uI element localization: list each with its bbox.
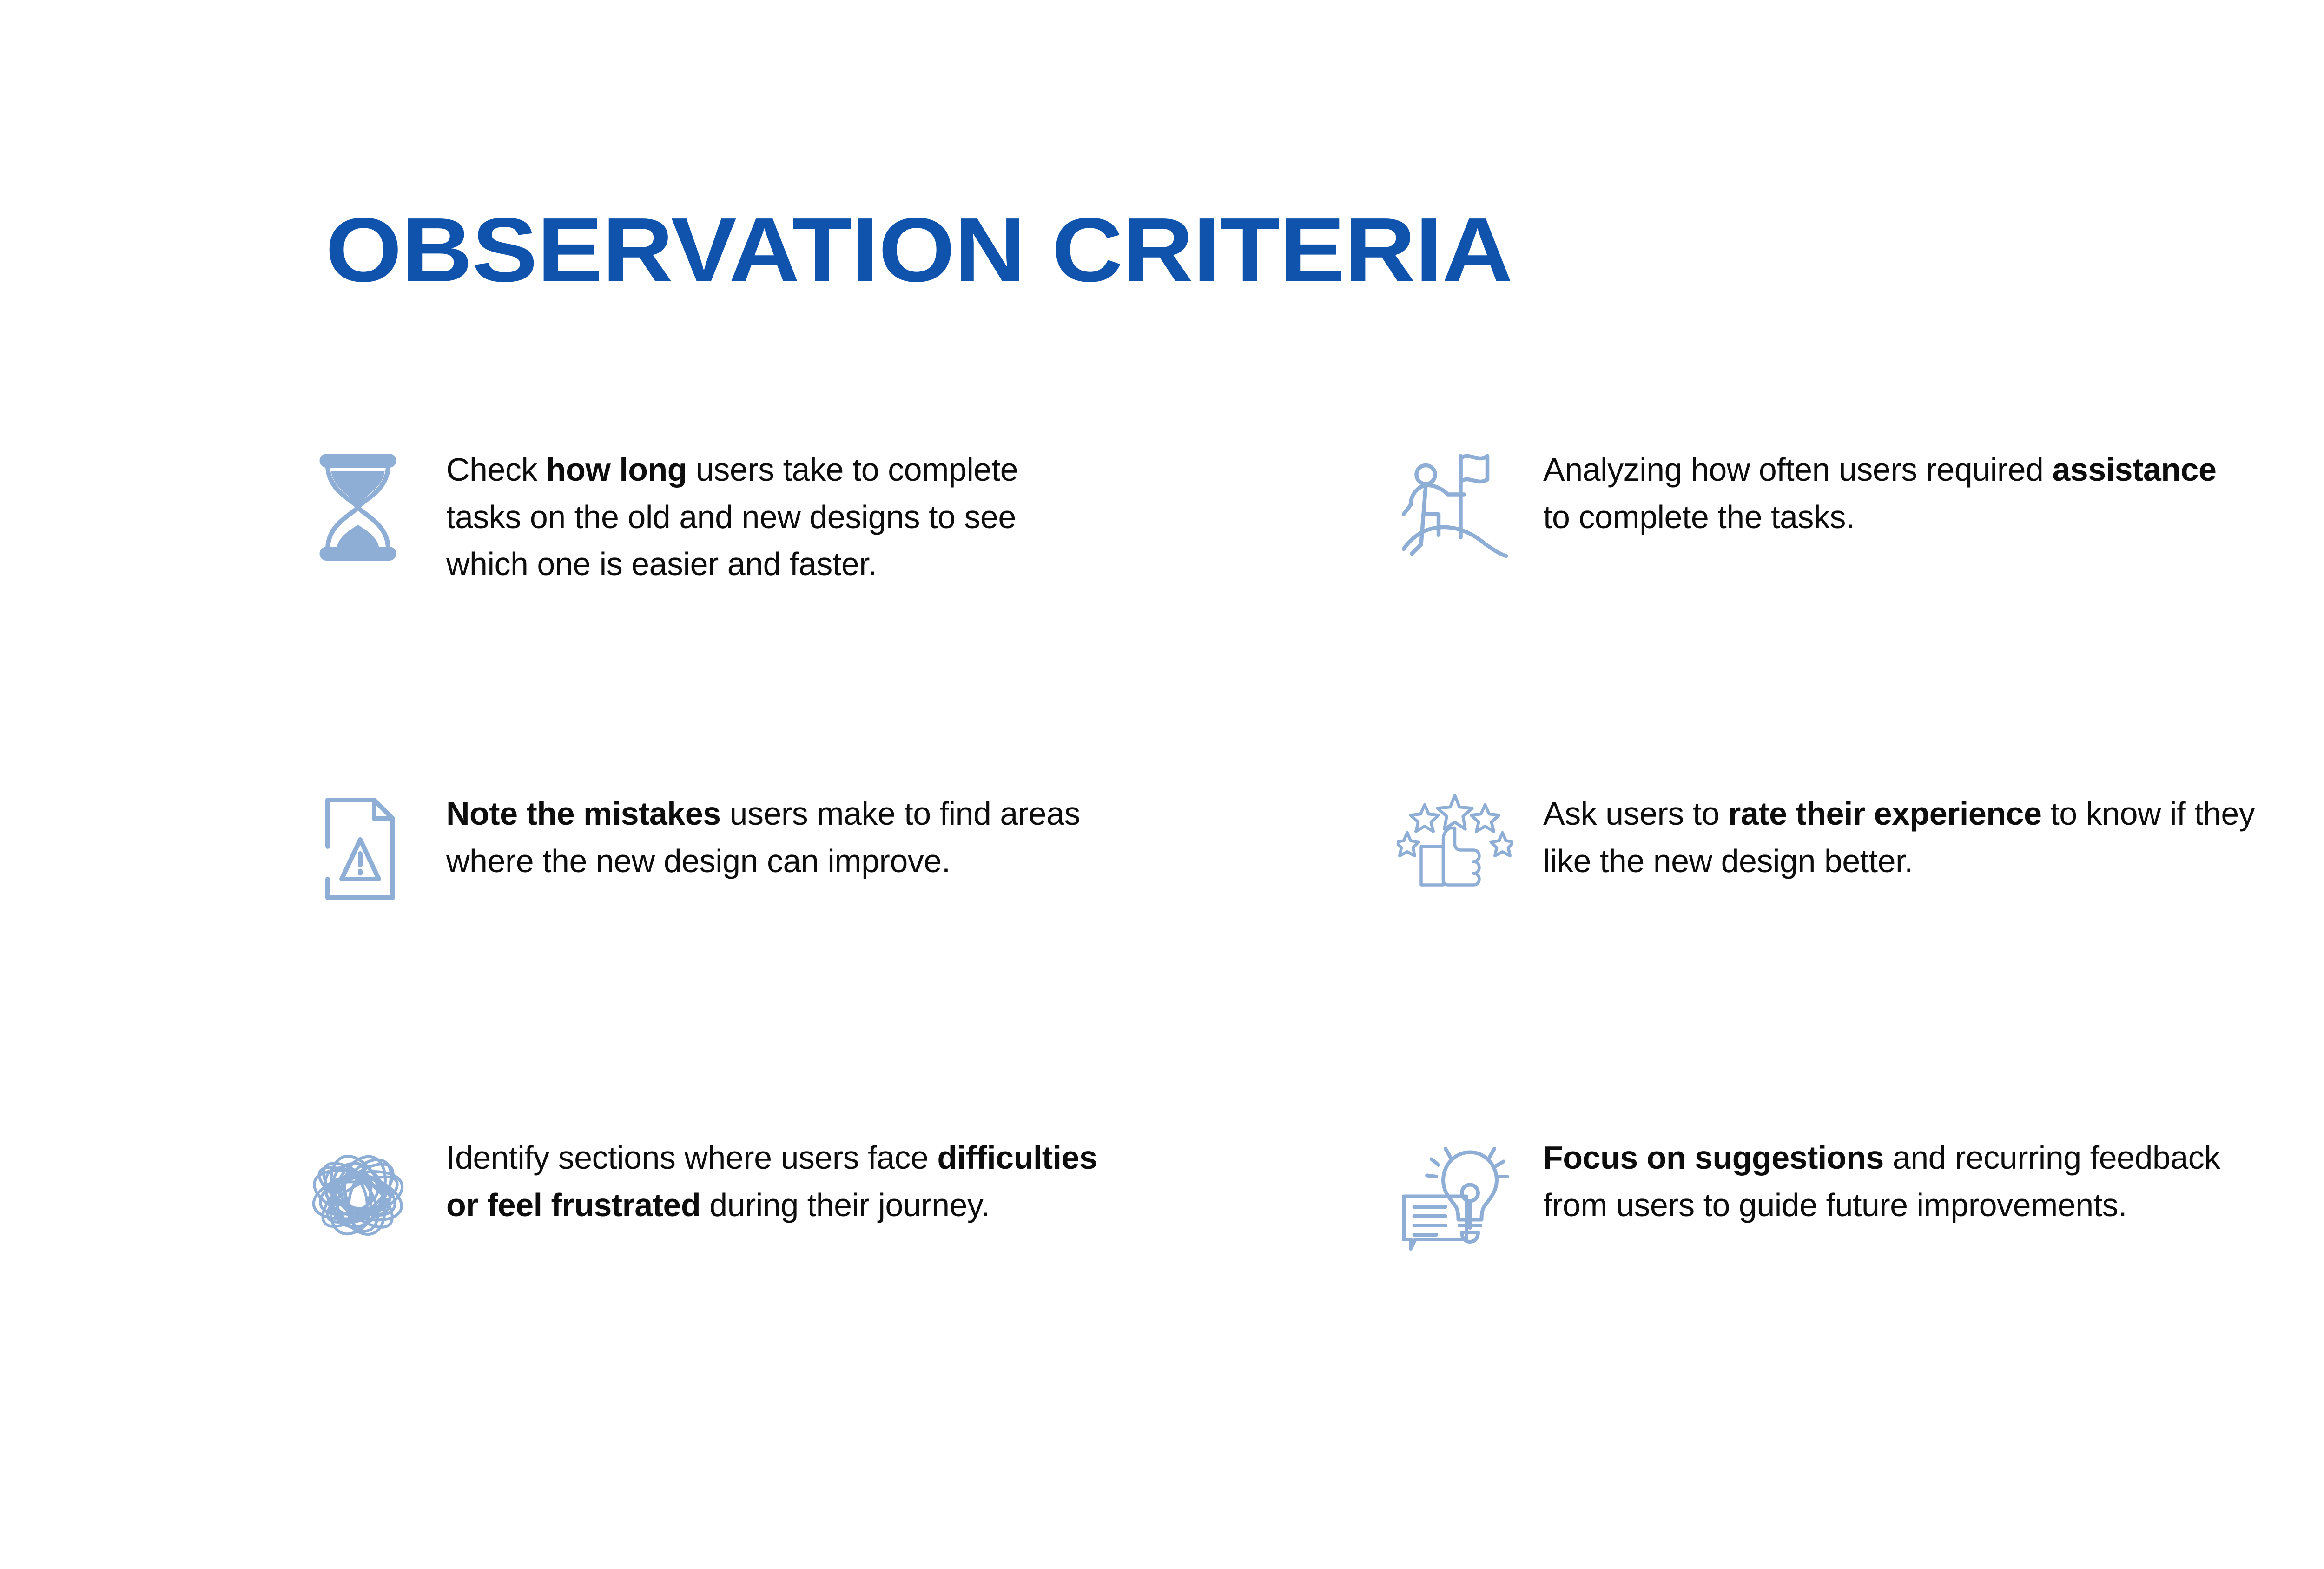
tangled-scribble-icon (297, 1134, 418, 1258)
criteria-text: Ask users to rate their experience to kn… (1543, 790, 2268, 885)
criteria-text: Focus on suggestions and recurring feedb… (1543, 1134, 2240, 1229)
text-run: Ask users to (1543, 795, 1728, 832)
criteria-item-assistance-required: Analyzing how often users required assis… (1385, 446, 2324, 790)
text-run-bold: rate their experience (1728, 795, 2041, 832)
text-run: to complete the tasks. (1543, 499, 1855, 535)
text-run: Check (446, 451, 546, 488)
text-run: Analyzing how often users required (1543, 451, 2052, 488)
criteria-item-time-on-task: Check how long users take to complete ta… (297, 446, 1385, 790)
criteria-item-satisfaction-rating: Ask users to rate their experience to kn… (1385, 790, 2324, 1134)
criteria-text: Analyzing how often users required assis… (1543, 446, 2231, 541)
lightbulb-feedback-icon (1394, 1134, 1515, 1258)
climber-flag-icon (1394, 446, 1515, 570)
criteria-text: Note the mistakes users make to find are… (446, 790, 1153, 885)
text-run: Identify sections where users face (446, 1139, 937, 1176)
document-warning-icon (297, 790, 418, 914)
criteria-grid: Check how long users take to complete ta… (297, 446, 2324, 1478)
criteria-text: Identify sections where users face diffi… (446, 1134, 1106, 1229)
criteria-item-error-rate: Note the mistakes users make to find are… (297, 790, 1385, 1134)
text-run: during their journey. (700, 1187, 990, 1223)
criteria-text: Check how long users take to complete ta… (446, 446, 1088, 588)
page-title: OBSERVATION CRITERIA (325, 205, 1512, 296)
slide-canvas: OBSERVATION CRITERIA Check how long user… (0, 0, 2324, 1569)
criteria-item-user-suggestions: Focus on suggestions and recurring feedb… (1385, 1134, 2324, 1478)
text-run-bold: assistance (2052, 451, 2216, 488)
criteria-item-friction-points: Identify sections where users face diffi… (297, 1134, 1385, 1478)
thumbs-up-stars-icon (1394, 790, 1515, 914)
text-run-bold: Focus on suggestions (1543, 1139, 1884, 1176)
text-run-bold: Note the mistakes (446, 795, 721, 832)
hourglass-icon (297, 446, 418, 570)
text-run-bold: how long (546, 451, 687, 488)
